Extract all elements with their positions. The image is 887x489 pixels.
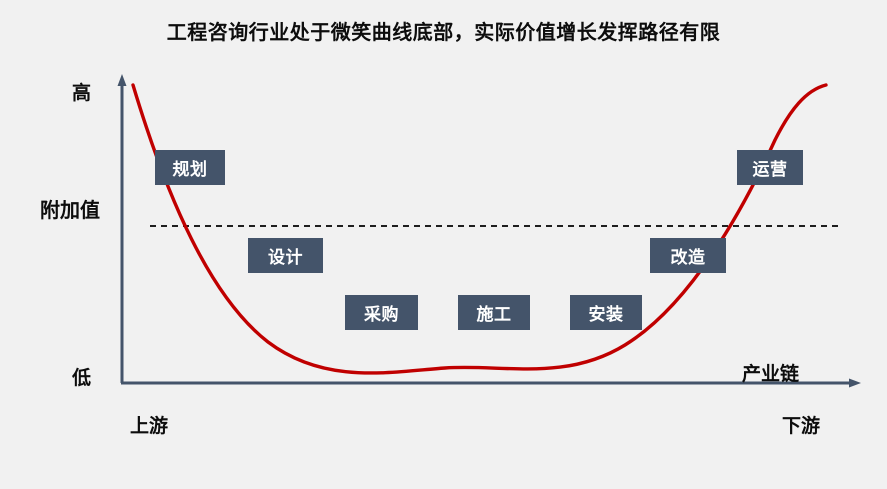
- stage-box-label: 采购: [364, 300, 399, 325]
- x-axis-upstream-label: 上游: [130, 411, 168, 438]
- stage-box[interactable]: 采购: [345, 295, 418, 330]
- stage-box[interactable]: 规划: [155, 150, 225, 185]
- stage-box-label: 安装: [589, 300, 624, 325]
- y-axis-arrow-icon: [118, 74, 127, 86]
- stage-box-label: 改造: [671, 243, 706, 268]
- smile-curve-chart: 工程咨询行业处于微笑曲线底部，实际价值增长发挥路径有限 高 低 附加值 产业链 …: [0, 0, 887, 489]
- stage-box[interactable]: 运营: [737, 150, 803, 185]
- y-axis-high-label: 高: [72, 78, 91, 105]
- y-axis: [118, 74, 127, 383]
- stage-box-label: 施工: [477, 300, 512, 325]
- y-axis-title: 附加值: [40, 196, 64, 224]
- x-axis-title: 产业链: [742, 359, 799, 386]
- stage-box[interactable]: 设计: [248, 238, 323, 273]
- stage-box[interactable]: 安装: [570, 295, 642, 330]
- stage-box-label: 运营: [753, 155, 788, 180]
- stage-box-label: 规划: [173, 155, 208, 180]
- x-axis-arrow-icon: [849, 379, 861, 388]
- stage-box[interactable]: 施工: [458, 295, 530, 330]
- x-axis-downstream-label: 下游: [782, 411, 820, 438]
- y-axis-low-label: 低: [72, 363, 91, 390]
- stage-box[interactable]: 改造: [650, 238, 726, 273]
- stage-box-label: 设计: [268, 243, 303, 268]
